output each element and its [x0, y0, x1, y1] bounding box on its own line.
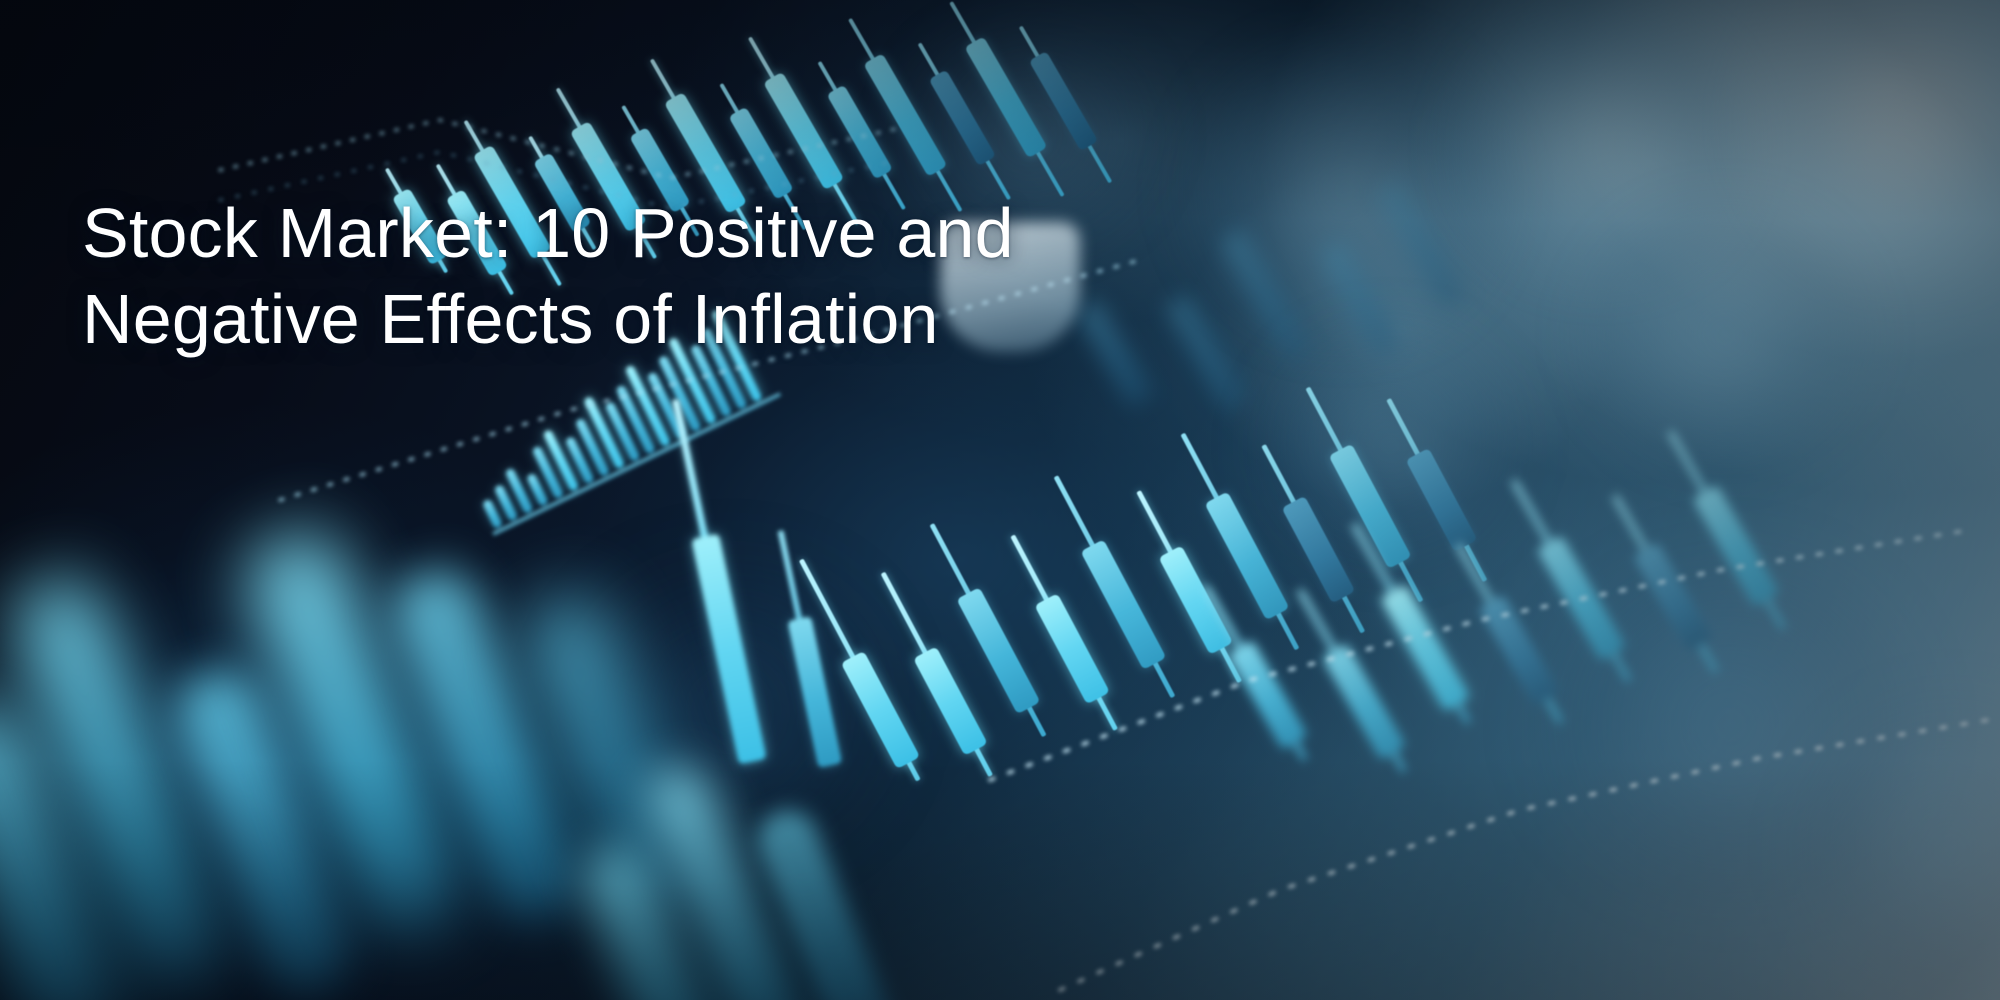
hero-banner: Stock Market: 10 Positive and Negative E…: [0, 0, 2000, 1000]
page-title: Stock Market: 10 Positive and Negative E…: [82, 190, 1142, 362]
vignette-overlay: [0, 0, 2000, 1000]
title-line-2: Negative Effects of Inflation: [82, 276, 1142, 362]
title-line-1: Stock Market: 10 Positive and: [82, 190, 1142, 276]
